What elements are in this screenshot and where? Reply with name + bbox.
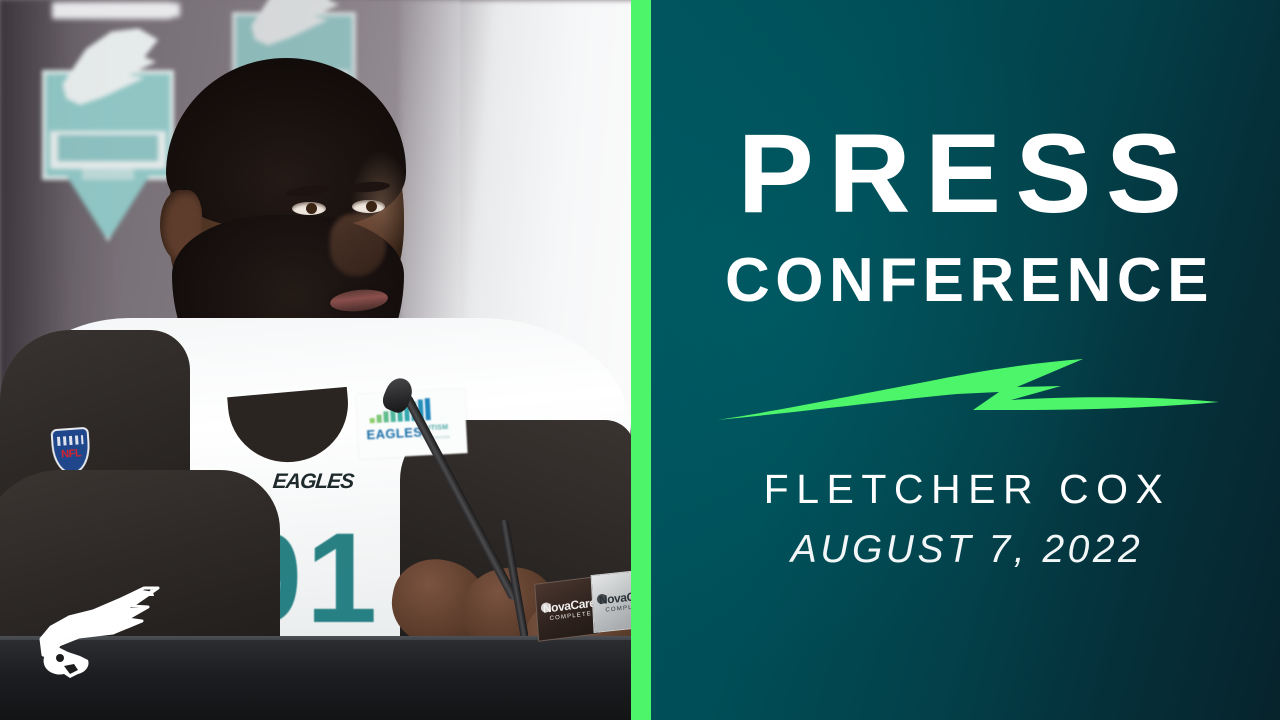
accent-divider	[631, 0, 651, 720]
jersey-wordmark: EAGLES	[253, 470, 374, 496]
title-panel: PRESS CONFERENCE FLETCHER COX AUGUST 7, …	[651, 0, 1280, 720]
event-date: AUGUST 7, 2022	[691, 528, 1243, 572]
mic-flag-dark: NovaCare COMPLETE	[534, 576, 600, 641]
speaker-name: FLETCHER COX	[691, 466, 1243, 512]
sponsor-banner-logo	[52, 2, 172, 19]
video-thumbnail-card: 91 EAGLES NFL EAGLES AUTISM FOUNDATION	[0, 0, 1280, 720]
headline-conference: CONFERENCE	[697, 250, 1242, 312]
headline-press: PRESS	[692, 118, 1243, 230]
patch-brand-label: EAGLES	[366, 424, 423, 442]
subject-eye-right	[352, 200, 385, 213]
eagles-logo-icon	[34, 578, 180, 682]
subject-eye-left	[292, 202, 326, 215]
press-conference-photo: 91 EAGLES NFL EAGLES AUTISM FOUNDATION	[0, 0, 631, 720]
nfl-shield-label: NFL	[54, 446, 89, 460]
subject-nose	[330, 214, 386, 276]
mic-flag-brand-label: NovaCare	[599, 588, 631, 608]
training-camp-shield-icon	[42, 36, 174, 226]
mic-flag-light: NovaCare COMPLETE	[591, 569, 631, 633]
lightning-bolt-icon	[711, 358, 1231, 432]
